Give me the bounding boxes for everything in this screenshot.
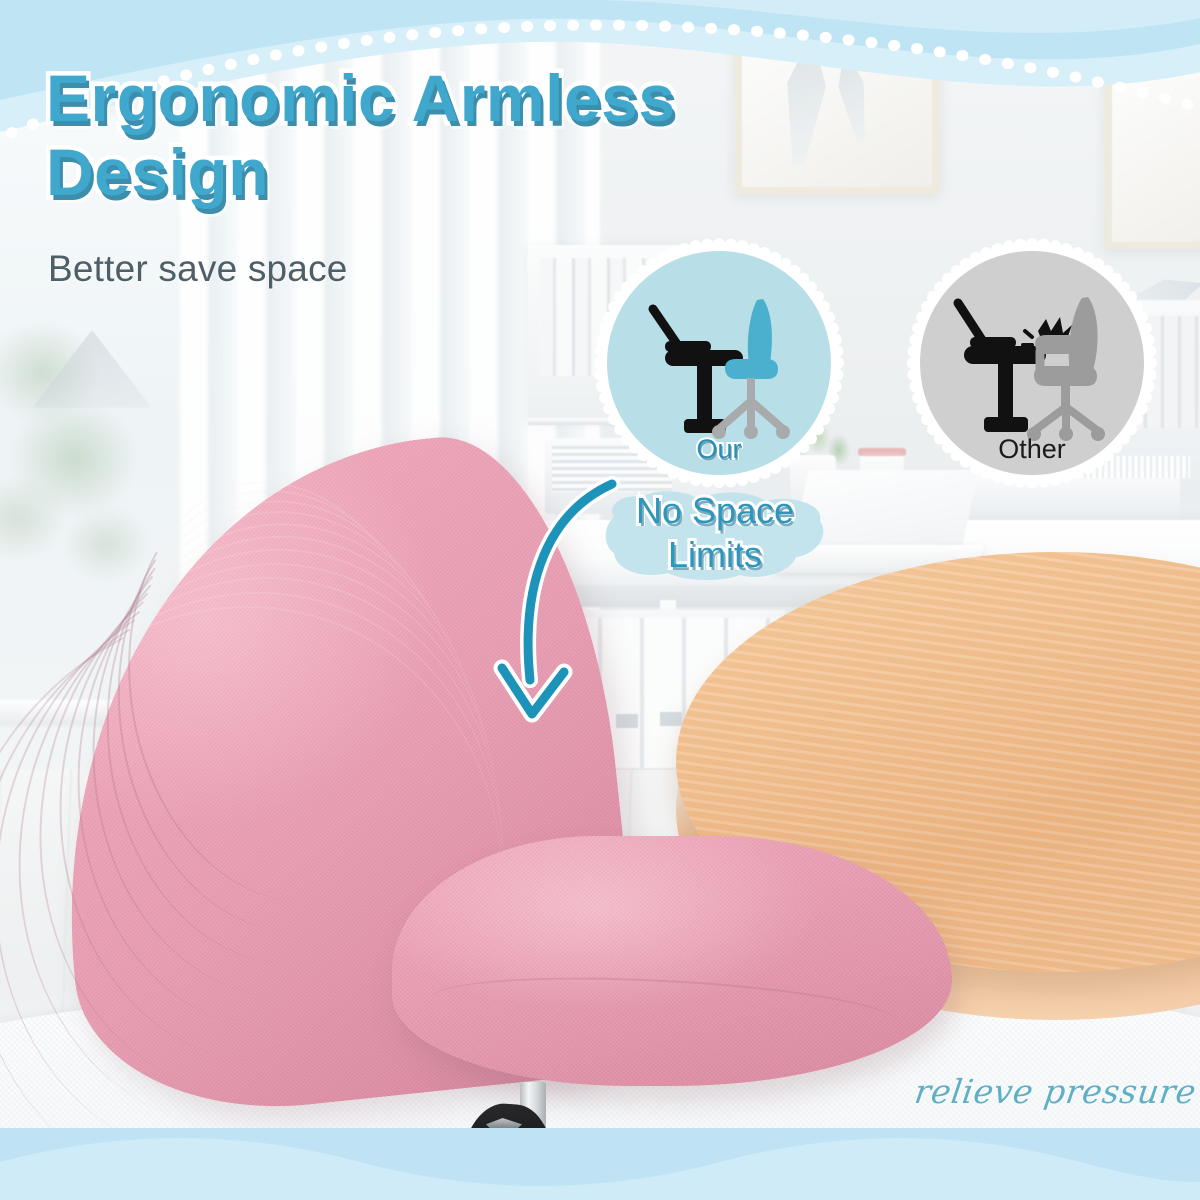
curved-down-arrow-icon [490, 470, 670, 760]
product-feature-poster: Ergonomic Armless Design Better save spa… [0, 0, 1200, 1200]
chair-base-branding [488, 1140, 534, 1158]
jar-lid [858, 448, 906, 456]
comparison-card-other: Other [920, 251, 1144, 475]
chair-caster [472, 1172, 546, 1200]
comparison-label-other: Other [920, 434, 1144, 465]
comparison-label-our: Our [607, 434, 831, 465]
wall-art-frame-right [1105, 60, 1200, 249]
chair-seat-cushion [392, 836, 952, 1086]
page-title: Ergonomic Armless Design [46, 62, 846, 210]
tagline-signature: relieve pressure [912, 1072, 1199, 1111]
page-subtitle: Better save space [48, 248, 348, 290]
comparison-card-our: Our [607, 251, 831, 475]
